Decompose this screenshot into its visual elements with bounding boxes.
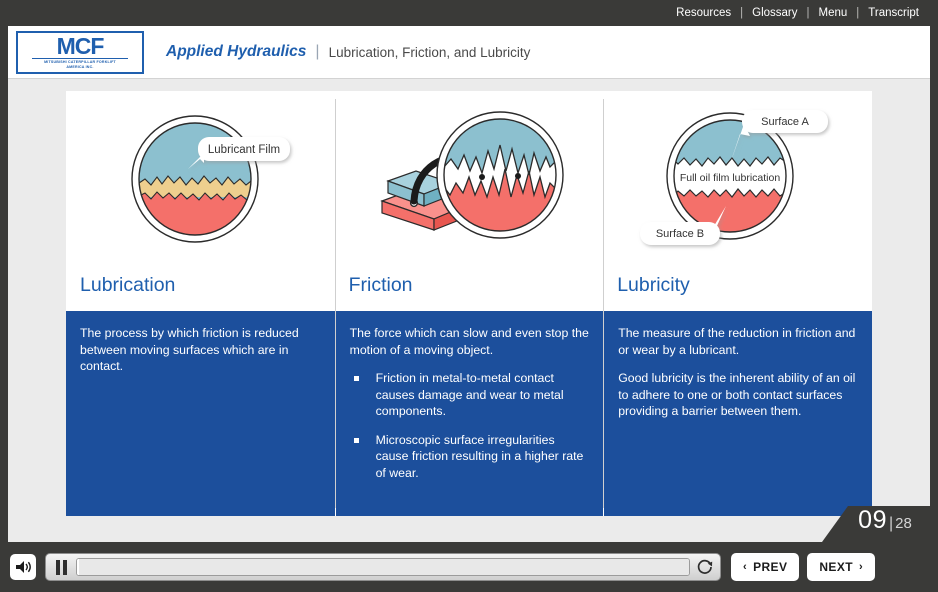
next-button[interactable]: NEXT › xyxy=(807,553,875,581)
chevron-right-icon: › xyxy=(859,561,863,573)
list-item: Friction in metal-to-metal contact cause… xyxy=(350,370,590,420)
friction-bullet-list: Friction in metal-to-metal contact cause… xyxy=(350,370,590,481)
lesson-title: Lubrication, Friction, and Lubricity xyxy=(329,45,531,60)
concept-title-lubricity: Lubricity xyxy=(603,259,872,311)
description-paragraph: The force which can slow and even stop t… xyxy=(350,325,590,358)
concept-description-lubrication: The process by which friction is reduced… xyxy=(66,311,335,516)
course-player: Resources | Glossary | Menu | Transcript… xyxy=(0,0,938,592)
concept-title-lubrication: Lubrication xyxy=(66,259,335,311)
pause-button[interactable] xyxy=(50,557,72,577)
course-title: Applied Hydraulics xyxy=(166,43,306,61)
prev-button[interactable]: ‹ PREV xyxy=(731,553,799,581)
callout-label-lubricant-film: Lubricant Film xyxy=(208,144,280,156)
callout-label-surface-a: Surface A xyxy=(762,116,810,128)
prev-button-label: PREV xyxy=(753,560,787,574)
replay-icon xyxy=(696,558,714,576)
callout-label-full-oil-film: Full oil film lubrication xyxy=(680,172,781,184)
concept-title-friction: Friction xyxy=(335,259,604,311)
progress-track[interactable] xyxy=(76,558,690,576)
content-panel: Lubricant Film Lubrication The process b… xyxy=(66,91,872,516)
nav-item-transcript[interactable]: Transcript xyxy=(859,0,928,26)
top-utility-nav: Resources | Glossary | Menu | Transcript xyxy=(0,0,938,26)
nav-item-glossary[interactable]: Glossary xyxy=(743,0,806,26)
lubricity-diagram-svg: Full oil film lubrication Surface A xyxy=(622,96,852,258)
concept-description-lubricity: The measure of the reduction in friction… xyxy=(603,311,872,516)
current-page-number: 09 xyxy=(858,506,887,535)
pause-bar-left xyxy=(56,560,60,575)
next-button-label: NEXT xyxy=(819,560,853,574)
friction-diagram-svg xyxy=(354,97,584,257)
progress-remaining xyxy=(79,559,689,575)
concept-description-friction: The force which can slow and even stop t… xyxy=(335,311,604,516)
pause-bar-right xyxy=(63,560,67,575)
title-divider: | xyxy=(315,43,319,61)
concept-column-lubrication: Lubricant Film Lubrication The process b… xyxy=(66,91,335,516)
description-paragraph: The measure of the reduction in friction… xyxy=(618,325,858,358)
mcf-logo: MCF MITSUBISHI CATERPILLAR FORKLIFT AMER… xyxy=(16,31,144,74)
logo-subtitle-line2: AMERICA INC. xyxy=(66,65,93,70)
logo-divider-rule xyxy=(32,58,128,59)
chevron-left-icon: ‹ xyxy=(743,561,747,573)
concept-column-lubricity: Full oil film lubrication Surface A xyxy=(603,91,872,516)
scrubber-control[interactable] xyxy=(45,553,721,581)
nav-item-menu[interactable]: Menu xyxy=(810,0,857,26)
description-paragraph: The process by which friction is reduced… xyxy=(80,325,321,375)
logo-wordmark: MCF xyxy=(57,35,104,57)
slide-stage: MCF MITSUBISHI CATERPILLAR FORKLIFT AMER… xyxy=(8,26,930,542)
replay-button[interactable] xyxy=(694,556,716,578)
lubrication-illustration: Lubricant Film xyxy=(66,91,335,259)
player-controls-bar: ‹ PREV NEXT › xyxy=(0,542,938,592)
course-header: MCF MITSUBISHI CATERPILLAR FORKLIFT AMER… xyxy=(8,26,930,79)
volume-icon xyxy=(15,560,32,574)
lubricity-illustration: Full oil film lubrication Surface A xyxy=(603,91,872,259)
progress-fill xyxy=(77,559,79,575)
concept-column-friction: Friction The force which can slow and ev… xyxy=(335,91,604,516)
friction-illustration xyxy=(335,91,604,259)
navigation-buttons: ‹ PREV NEXT › xyxy=(731,553,875,581)
description-paragraph: Good lubricity is the inherent ability o… xyxy=(618,370,858,420)
lubrication-diagram-svg: Lubricant Film xyxy=(100,97,300,257)
nav-item-resources[interactable]: Resources xyxy=(667,0,740,26)
list-item: Microscopic surface irregularities cause… xyxy=(350,432,590,482)
volume-button[interactable] xyxy=(10,554,36,580)
total-page-number: 28 xyxy=(895,515,912,532)
callout-label-surface-b: Surface B xyxy=(656,228,704,240)
page-separator: | xyxy=(889,515,893,533)
